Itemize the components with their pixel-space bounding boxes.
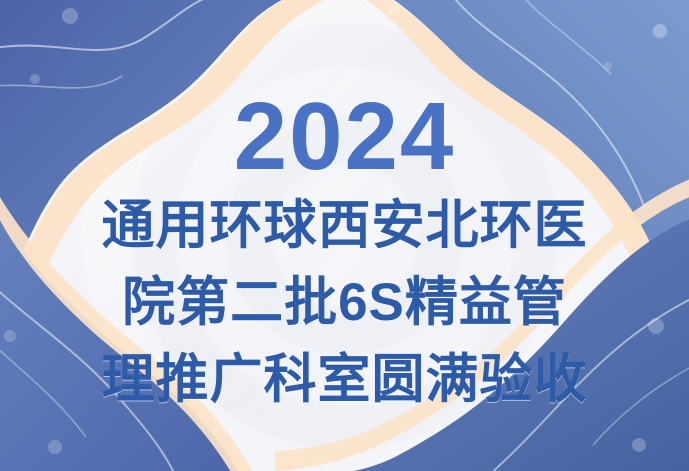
- poster-content: 2024 通用环球西安北环医 院第二批6S精益管 理推广科室圆满验收: [0, 0, 689, 471]
- headline-line-1: 通用环球西安北环医: [102, 189, 588, 262]
- poster-canvas: 2024 通用环球西安北环医 院第二批6S精益管 理推广科室圆满验收: [0, 0, 689, 471]
- headline-line-2: 院第二批6S精益管: [122, 266, 567, 339]
- headline-line-3: 理推广科室圆满验收: [102, 343, 588, 416]
- poster-year: 2024: [234, 96, 456, 179]
- poster-headline: 通用环球西安北环医 院第二批6S精益管 理推广科室圆满验收: [102, 189, 588, 416]
